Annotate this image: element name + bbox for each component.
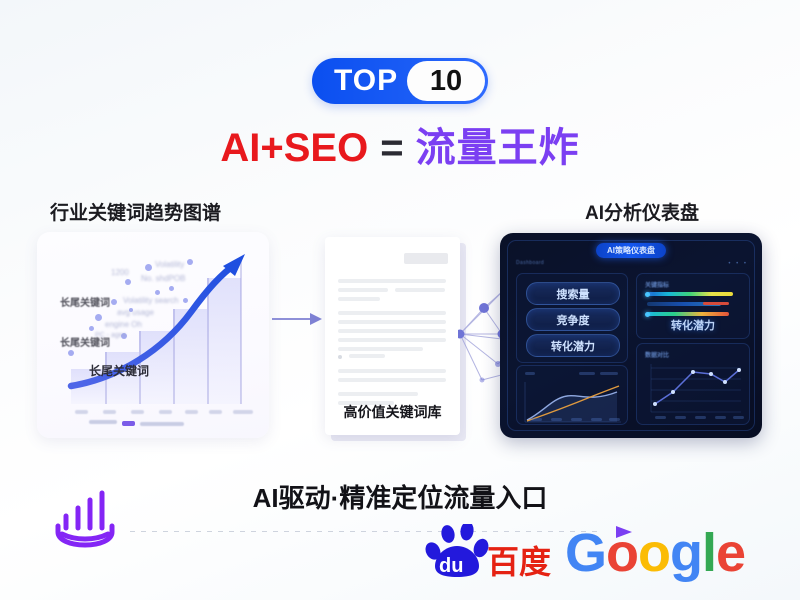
pill-conversion[interactable]: 转化潜力 bbox=[526, 334, 620, 357]
keyword-label: 长尾关键词 bbox=[60, 294, 110, 309]
scatter-dot bbox=[95, 314, 102, 321]
doc-text-line bbox=[338, 288, 388, 292]
gradient-bar bbox=[647, 292, 733, 296]
trend-chart-plot: Volatility No. shdPOB Volatility search … bbox=[59, 246, 257, 404]
axis-tick bbox=[695, 416, 706, 419]
flow-arrow-left bbox=[272, 312, 322, 326]
scatter-dot bbox=[111, 299, 117, 305]
keyword-document-card: 高价值关键词库 bbox=[325, 237, 460, 435]
chart-legend bbox=[37, 415, 269, 433]
axis-tick bbox=[531, 418, 542, 421]
scatter-dot bbox=[183, 298, 188, 303]
ghost-text: Volatility bbox=[155, 260, 184, 269]
doc-text-line bbox=[338, 347, 423, 351]
doc-text-line bbox=[338, 311, 446, 315]
axis-tick bbox=[591, 418, 602, 421]
axis-tick bbox=[609, 418, 620, 421]
scatter-dot bbox=[155, 290, 160, 295]
ghost-text: No. shdPOB bbox=[141, 274, 185, 283]
scatter-dot bbox=[89, 326, 94, 331]
ghost-text: Volatility search bbox=[123, 296, 179, 305]
section-label-left: 行业关键词趋势图谱 bbox=[50, 198, 221, 225]
google-letter: l bbox=[702, 523, 716, 583]
area-chart-legend bbox=[579, 372, 595, 375]
top-badge-label: TOP bbox=[312, 66, 398, 96]
dashboard-subtitle: Dashboard bbox=[516, 260, 544, 266]
section-label-right: AI分析仪表盘 bbox=[585, 198, 699, 225]
dashboard-title-badge: AI策略仪表盘 bbox=[596, 243, 666, 258]
axis-tick bbox=[733, 416, 744, 419]
scatter-dot bbox=[125, 279, 131, 285]
axis-tick bbox=[233, 410, 253, 414]
meter-handle[interactable] bbox=[645, 292, 650, 297]
doc-text-line bbox=[395, 288, 445, 292]
trend-area-chart-panel bbox=[516, 365, 628, 425]
baidu-logo: du 百度 bbox=[425, 524, 555, 580]
legend-swatch bbox=[122, 421, 135, 426]
axis-tick bbox=[209, 410, 222, 414]
top-badge-number: 10 bbox=[407, 61, 485, 101]
axis-tick bbox=[715, 416, 726, 419]
comparison-line-chart-panel: 数据对比 bbox=[636, 343, 750, 425]
title-ai-seo: AI+SEO bbox=[220, 126, 368, 170]
area-chart-ylabel bbox=[525, 372, 535, 375]
doc-label: 高价值关键词库 bbox=[325, 402, 460, 422]
trend-chart-card: Volatility No. shdPOB Volatility search … bbox=[37, 232, 269, 438]
bar-chart-icon bbox=[52, 488, 118, 550]
axis-tick bbox=[655, 416, 666, 419]
meter-panel-caption: 关键指标 bbox=[645, 280, 669, 289]
ghost-text: engine Oh bbox=[105, 320, 142, 329]
doc-text-line bbox=[338, 297, 380, 301]
area-chart-legend bbox=[600, 372, 618, 375]
meter-overlay-label: 转化潜力 bbox=[637, 317, 749, 333]
axis-tick bbox=[159, 410, 172, 414]
keyword-label: 长尾关键词 bbox=[89, 362, 149, 379]
legend-label bbox=[140, 422, 184, 426]
scatter-dot bbox=[169, 286, 174, 291]
doc-bullet bbox=[338, 355, 342, 359]
doc-text-line bbox=[338, 320, 446, 324]
pill-search-volume[interactable]: 搜索量 bbox=[526, 282, 620, 305]
gradient-bar bbox=[647, 312, 729, 316]
indicator-meter-panel: 关键指标 转化潜力 bbox=[636, 273, 750, 339]
pill-competition[interactable]: 竞争度 bbox=[526, 308, 620, 331]
doc-text-line bbox=[338, 369, 446, 373]
line-panel-caption: 数据对比 bbox=[645, 350, 669, 359]
network-node bbox=[480, 378, 485, 383]
google-letter: o bbox=[606, 523, 638, 583]
scatter-dot bbox=[145, 264, 152, 271]
page-title: AI+SEO=流量王炸 bbox=[0, 126, 800, 170]
google-letter: g bbox=[670, 523, 702, 583]
bottom-tagline: AI驱动·精准定位流量入口 bbox=[0, 478, 800, 515]
title-traffic: 流量王炸 bbox=[416, 126, 580, 170]
dashboard-menu-icon[interactable]: • • • bbox=[728, 261, 748, 267]
doc-text-line bbox=[349, 354, 385, 358]
ghost-text: avg usage bbox=[117, 308, 154, 317]
axis-tick bbox=[103, 410, 116, 414]
top-rank-badge: TOP 10 bbox=[312, 58, 488, 104]
baidu-cn-text: 百度 bbox=[487, 544, 551, 580]
scatter-dot bbox=[68, 350, 74, 356]
doc-text-line bbox=[338, 279, 446, 283]
doc-text-line bbox=[338, 329, 446, 333]
axis-tick bbox=[551, 418, 562, 421]
doc-text-line bbox=[338, 378, 446, 382]
axis-tick bbox=[675, 416, 686, 419]
doc-text-line bbox=[338, 338, 446, 342]
baidu-du-text: du bbox=[439, 555, 463, 577]
keyword-label: 长尾关键词 bbox=[60, 334, 110, 349]
network-node bbox=[479, 303, 489, 313]
metric-pills-panel: 搜索量 竞争度 转化潜力 bbox=[516, 273, 628, 363]
google-logo: Google bbox=[565, 524, 745, 582]
google-letter: G bbox=[565, 523, 606, 583]
axis-tick bbox=[75, 410, 88, 414]
axis-tick bbox=[571, 418, 582, 421]
ghost-text: 1200 bbox=[111, 268, 129, 277]
ai-dashboard-panel: AI策略仪表盘 Dashboard • • • 搜索量 竞争度 转化潜力 关键指… bbox=[500, 233, 762, 438]
doc-header-chip bbox=[404, 253, 448, 264]
slide-canvas: TOP 10 AI+SEO=流量王炸 行业关键词趋势图谱 AI分析仪表盘 bbox=[0, 0, 800, 600]
meter-handle[interactable] bbox=[645, 312, 650, 317]
scatter-dot bbox=[187, 259, 193, 265]
google-letter: o bbox=[638, 523, 670, 583]
axis-tick bbox=[131, 410, 144, 414]
title-equals: = bbox=[380, 126, 403, 170]
google-letter: e bbox=[716, 523, 745, 583]
doc-text-line bbox=[338, 392, 418, 396]
axis-tick bbox=[185, 410, 198, 414]
meter-chip bbox=[703, 302, 729, 305]
